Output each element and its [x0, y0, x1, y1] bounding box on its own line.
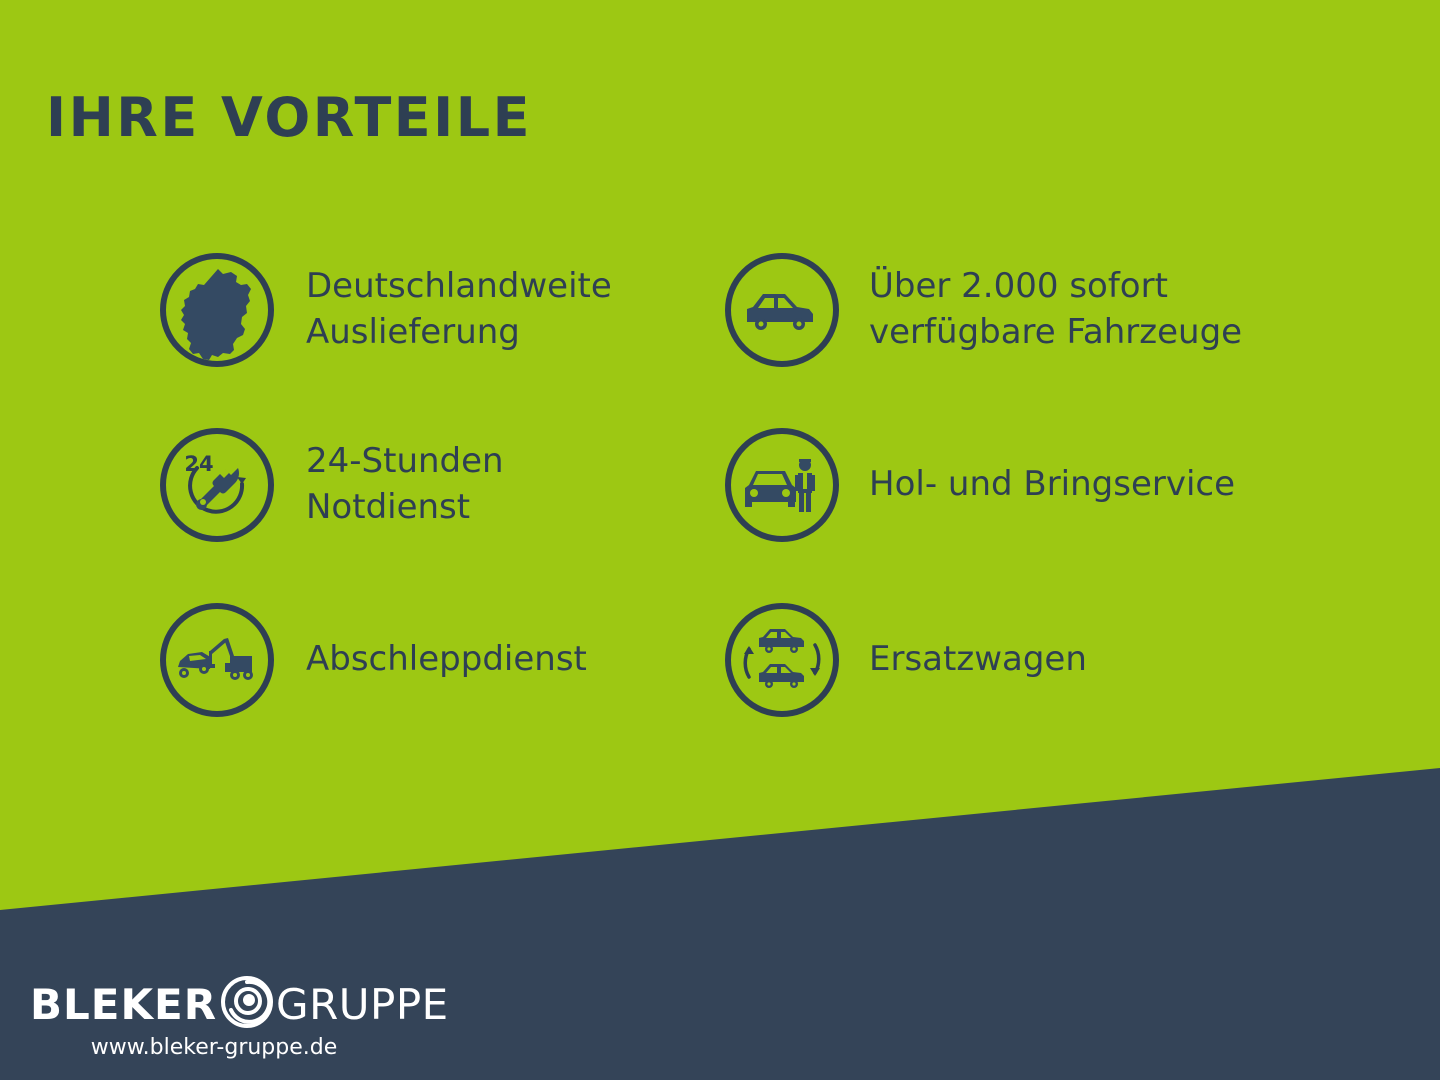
benefit-label: Deutschlandweite Auslieferung — [306, 264, 612, 354]
benefit-item-abschleppdienst: Abschleppdienst — [158, 572, 718, 747]
car-exchange-icon — [723, 601, 841, 719]
car-with-driver-icon — [723, 426, 841, 544]
benefit-item-24-stunden-notdienst: 24 24-Stunden Notdienst — [158, 397, 718, 572]
benefit-label: 24-Stunden Notdienst — [306, 439, 504, 529]
benefit-label: Ersatzwagen — [869, 637, 1087, 682]
clock-24-wrench-icon: 24 — [158, 426, 276, 544]
logo-wordmark: BLEKER GRUPPE — [30, 977, 450, 1031]
spiral-icon — [219, 974, 275, 1034]
company-logo[interactable]: BLEKER GRUPPE www.bleker-gruppe.de — [30, 977, 450, 1060]
benefit-item-verfuegbare-fahrzeuge: Über 2.000 sofort verfügbare Fahrzeuge — [723, 222, 1323, 397]
page-title: IHRE VORTEILE — [46, 86, 532, 149]
website-url[interactable]: www.bleker-gruppe.de — [30, 1035, 398, 1060]
slide-canvas: IHRE VORTEILE Deutschlandweite Ausliefer… — [0, 0, 1440, 1080]
benefit-item-deutschlandweite-auslieferung: Deutschlandweite Auslieferung — [158, 222, 718, 397]
benefit-label: Über 2.000 sofort verfügbare Fahrzeuge — [869, 264, 1242, 354]
benefit-item-hol-und-bringservice: Hol- und Bringservice — [723, 397, 1323, 572]
benefit-label: Abschleppdienst — [306, 637, 587, 682]
logo-name-regular: GRUPPE — [276, 980, 449, 1029]
benefits-left-column: Deutschlandweite Auslieferung 24 — [158, 222, 718, 747]
tow-truck-icon — [158, 601, 276, 719]
benefit-label: Hol- und Bringservice — [869, 462, 1235, 507]
benefits-right-column: Über 2.000 sofort verfügbare Fahrzeuge — [723, 222, 1323, 747]
germany-map-icon — [158, 251, 276, 369]
icon-text-24: 24 — [184, 452, 213, 476]
car-side-icon — [723, 251, 841, 369]
benefit-item-ersatzwagen: Ersatzwagen — [723, 572, 1323, 747]
logo-name-bold: BLEKER — [30, 980, 217, 1029]
